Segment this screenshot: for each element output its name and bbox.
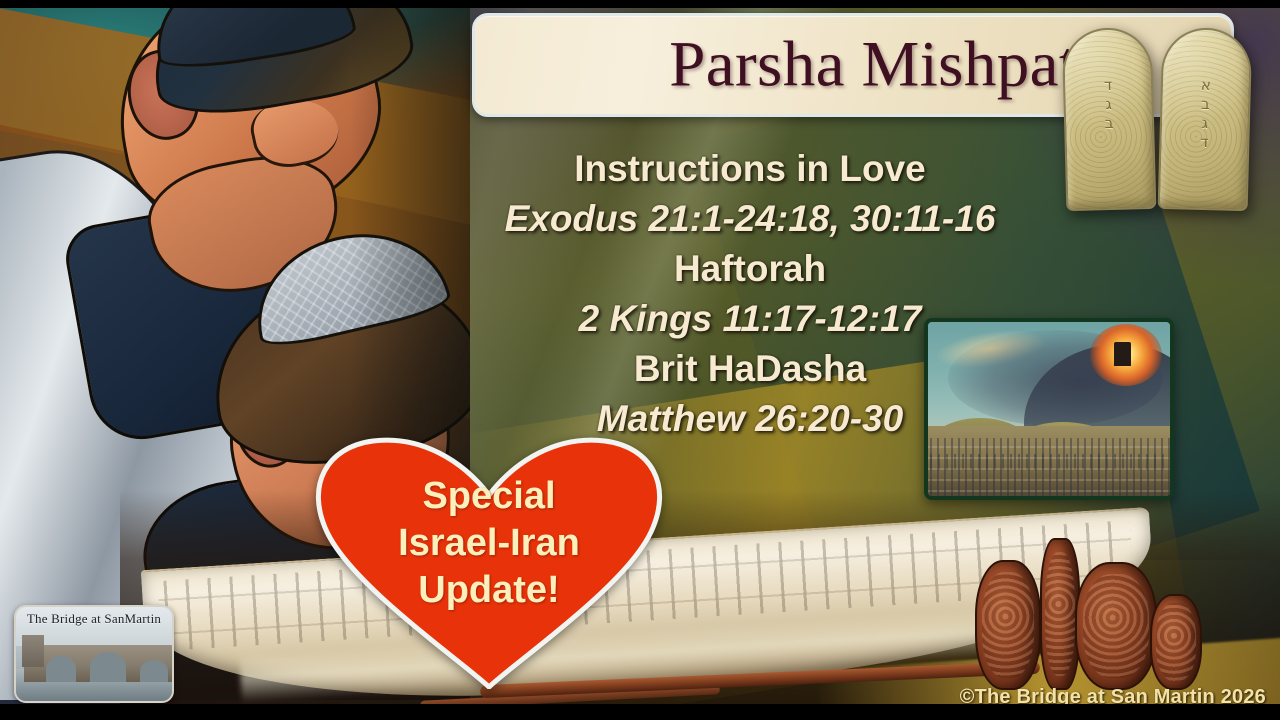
logo-text: The Bridge at SanMartin bbox=[16, 611, 172, 627]
heart-badge-line-1: Special bbox=[313, 473, 665, 520]
mount-sinai-painting bbox=[924, 318, 1174, 500]
special-update-heart-badge[interactable]: Special Israel-Iran Update! bbox=[313, 437, 665, 689]
scroll-roller-4 bbox=[1150, 594, 1202, 690]
scroll-roller-3 bbox=[1075, 562, 1157, 690]
ministry-logo[interactable]: The Bridge at SanMartin bbox=[14, 605, 174, 703]
slide-canvas: Parsha Mishpatim דגב אבגד Instructions i… bbox=[0, 0, 1280, 720]
tablet-right: אבגד bbox=[1158, 27, 1253, 211]
tablet-left-glyphs: דגב bbox=[1065, 75, 1152, 134]
scroll-roller-1 bbox=[975, 560, 1041, 690]
logo-bridge-arch bbox=[90, 652, 126, 682]
painting-crowd-near bbox=[928, 438, 1170, 496]
logo-bridge bbox=[24, 645, 172, 683]
painting-altar bbox=[1114, 342, 1131, 366]
heart-badge-line-2: Israel-Iran bbox=[313, 520, 665, 567]
tablet-right-glyphs: אבגד bbox=[1161, 75, 1249, 153]
tablet-left: דגב bbox=[1062, 27, 1157, 211]
scroll-roller-2 bbox=[1040, 538, 1080, 690]
heart-badge-line-3: Update! bbox=[313, 567, 665, 614]
reading-line-torah-portion: Exodus 21:1-24:18, 30:11-16 bbox=[470, 194, 1030, 244]
logo-bridge-arch bbox=[46, 656, 76, 682]
roller-wood-rings bbox=[982, 572, 1034, 678]
logo-tower bbox=[22, 635, 44, 667]
roller-wood-rings bbox=[1083, 574, 1149, 678]
letterbox-bar-bottom bbox=[0, 704, 1280, 720]
letterbox-bar-top bbox=[0, 0, 1280, 8]
reading-line-parsha-theme: Instructions in Love bbox=[470, 144, 1030, 194]
roller-wood-rings bbox=[1156, 603, 1196, 680]
heart-badge-text: Special Israel-Iran Update! bbox=[313, 473, 665, 614]
logo-bridge-arch bbox=[140, 660, 168, 682]
roller-wood-rings bbox=[1045, 552, 1075, 676]
ten-commandments-tablets-icon: דגב אבגד bbox=[1062, 28, 1258, 214]
reading-line-haftorah-label: Haftorah bbox=[470, 244, 1030, 294]
